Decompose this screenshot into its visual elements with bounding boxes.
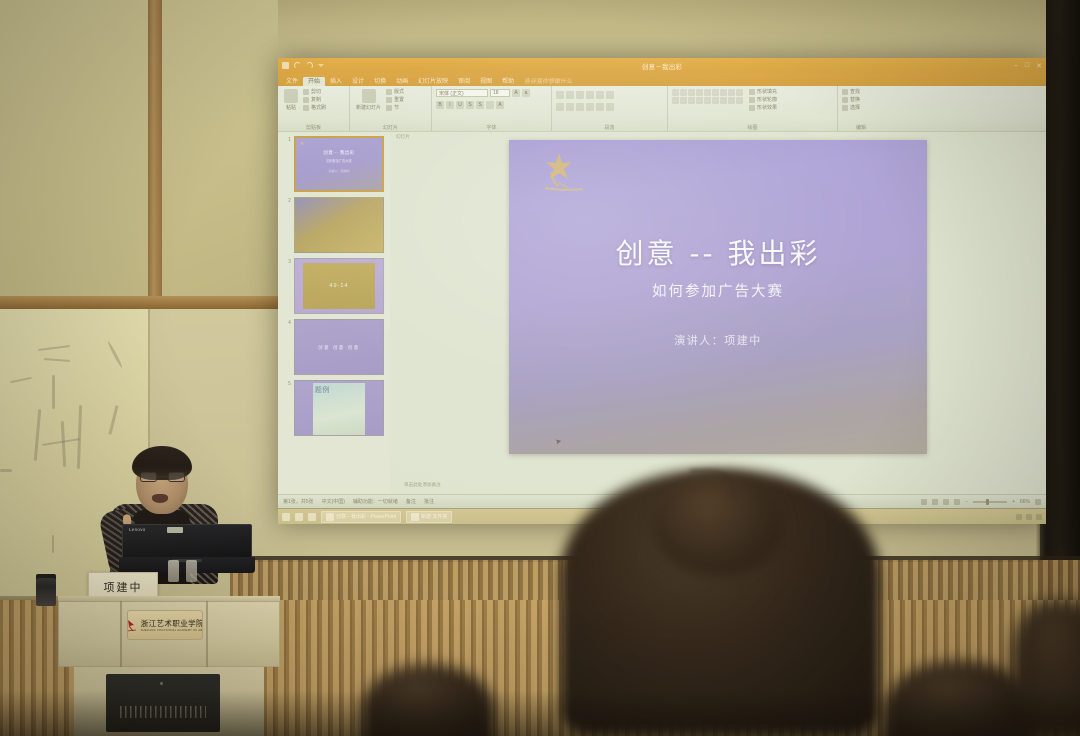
justify-button[interactable] xyxy=(586,103,594,111)
fill-bucket-icon xyxy=(749,89,755,95)
lectern-panel-seam xyxy=(206,601,208,667)
slide-counter: 第1张，共5张 xyxy=(283,498,314,505)
whiteboard-marker-trace xyxy=(52,375,55,409)
search-icon xyxy=(842,89,848,95)
decrease-indent-button[interactable] xyxy=(576,91,584,99)
thumbnail-text: 49-14 xyxy=(295,283,383,289)
font-size-input[interactable]: 18 xyxy=(490,89,510,97)
scissors-icon xyxy=(303,89,309,95)
ribbon-group-drawing: 形状填充 形状轮廓 形状效果 绘图 xyxy=(668,86,838,132)
foreground-shadow xyxy=(0,690,1080,736)
window-title: 创意－我出彩 xyxy=(278,61,1046,71)
lecture-hall-photo: 创意－我出彩 – □ ✕ 文件 开始 插入 设计 切换 动画 幻灯片放映 审阅 … xyxy=(0,0,1080,736)
whiteboard-marker-trace xyxy=(44,358,70,362)
slide-thumbnail-3[interactable]: 49-14 xyxy=(294,258,384,314)
minimize-button[interactable]: – xyxy=(1014,62,1018,69)
group-label-paragraph: 段落 xyxy=(552,124,667,131)
line-spacing-button[interactable] xyxy=(596,91,604,99)
character-spacing-icon[interactable] xyxy=(486,101,494,109)
slide-canvas-pane[interactable]: 幻灯片 创意 -- 我出彩 如何参加广告大赛 演讲人：项建中 ➤ xyxy=(390,132,1046,494)
shape-bracket-icon[interactable] xyxy=(712,97,719,104)
window-controls[interactable]: – □ ✕ xyxy=(1014,58,1042,73)
replace-icon xyxy=(842,97,848,103)
decrease-font-icon[interactable]: a xyxy=(522,89,530,97)
wall-wood-trim-vertical xyxy=(148,0,162,305)
thumbnail-number: 4 xyxy=(286,319,291,326)
copy-button[interactable]: 复制 xyxy=(303,97,326,103)
shape-heart-icon[interactable] xyxy=(728,97,735,104)
ribbon-group-slides: 新建幻灯片 版式 重置 xyxy=(350,86,432,132)
institution-name-cn: 浙江艺术职业学院 xyxy=(141,618,203,629)
layout-button[interactable]: 版式 xyxy=(386,89,404,95)
layout-icon xyxy=(386,89,392,95)
shape-freeform-icon[interactable] xyxy=(680,97,687,104)
copy-icon xyxy=(303,97,309,103)
shape-cube-icon[interactable] xyxy=(704,97,711,104)
shape-plus-icon[interactable] xyxy=(720,97,727,104)
shape-diamond-icon[interactable] xyxy=(688,97,695,104)
shape-curve-icon[interactable] xyxy=(672,97,679,104)
align-right-button[interactable] xyxy=(576,103,584,111)
thumbnail-number: 5 xyxy=(286,380,291,387)
bold-button[interactable]: B xyxy=(436,101,444,109)
slide-sorter-icon[interactable] xyxy=(932,499,938,505)
slide-thumbnail-1[interactable]: ★ 创意 -- 我出彩 如何参加广告大赛 演讲人：项建中 xyxy=(294,136,384,192)
format-painter-button[interactable]: 格式刷 xyxy=(303,105,326,111)
section-icon xyxy=(386,105,392,111)
tab-review[interactable]: 审阅 xyxy=(453,77,475,86)
align-center-button[interactable] xyxy=(566,103,574,111)
group-label-font: 字体 xyxy=(432,124,551,131)
ribbon-group-clipboard: 粘贴 剪切 复制 xyxy=(278,86,350,132)
work-area: 1 ★ 创意 -- 我出彩 如何参加广告大赛 演讲人：项建中 2 3 xyxy=(278,132,1046,494)
shape-oval-icon[interactable] xyxy=(680,89,687,96)
slide-thumbnail-4[interactable]: 创意 创意 创意 xyxy=(294,319,384,375)
thumbnail-text: 题例 xyxy=(315,385,330,395)
tab-view[interactable]: 视图 xyxy=(475,77,497,86)
new-slide-icon xyxy=(362,89,376,103)
increase-font-icon[interactable]: A xyxy=(512,89,520,97)
ribbon-tab-strip[interactable]: 文件 开始 插入 设计 切换 动画 幻灯片放映 审阅 视图 帮助 告诉我你想做什… xyxy=(278,73,1046,86)
wall-wood-trim-horizontal xyxy=(0,296,282,309)
ime-icon[interactable] xyxy=(1036,514,1042,520)
tab-help[interactable]: 帮助 xyxy=(497,77,519,86)
eyeglass-bridge xyxy=(157,476,168,477)
window-titlebar: 创意－我出彩 – □ ✕ xyxy=(278,58,1046,73)
shape-callout-icon[interactable] xyxy=(720,89,727,96)
institution-name-en: ZHEJIANG VOCATIONAL ACADEMY OF ART xyxy=(141,629,203,632)
windows-start-icon[interactable] xyxy=(282,513,290,521)
zoom-in-icon[interactable]: + xyxy=(1012,499,1015,505)
close-button[interactable]: ✕ xyxy=(1036,62,1042,70)
shape-more-icon[interactable] xyxy=(736,89,743,96)
shape-effects-button[interactable]: 形状效果 xyxy=(749,105,777,111)
tell-me-search[interactable]: 告诉我你想做什么 xyxy=(519,77,577,86)
thumbnail-title: 创意 -- 我出彩 xyxy=(296,150,382,156)
institution-plaque: 浙江艺术职业学院 ZHEJIANG VOCATIONAL ACADEMY OF … xyxy=(127,610,203,640)
effects-icon xyxy=(749,105,755,111)
reading-view-icon[interactable] xyxy=(943,499,949,505)
numbering-button[interactable] xyxy=(566,91,574,99)
slide-title[interactable]: 创意 -- 我出彩 xyxy=(509,232,927,272)
whiteboard-marker-trace xyxy=(61,421,66,467)
red-dancer-logo-icon xyxy=(127,618,139,633)
gold-star-dancer-logo-icon xyxy=(535,150,599,196)
network-icon[interactable] xyxy=(1016,514,1022,520)
shape-fill-button[interactable]: 形状填充 xyxy=(749,89,777,95)
zoom-out-icon[interactable]: − xyxy=(965,499,968,505)
thumbnail-row[interactable]: 1 ★ 创意 -- 我出彩 如何参加广告大赛 演讲人：项建中 xyxy=(286,136,384,192)
new-slide-button[interactable]: 新建幻灯片 xyxy=(354,89,383,111)
cut-button[interactable]: 剪切 xyxy=(303,89,326,95)
paste-button[interactable]: 粘贴 xyxy=(282,89,300,111)
tab-design[interactable]: 设计 xyxy=(347,77,369,86)
powerpoint-window: 创意－我出彩 – □ ✕ 文件 开始 插入 设计 切换 动画 幻灯片放映 审阅 … xyxy=(278,58,1046,524)
projection-light-spill xyxy=(278,0,1046,62)
slide-subtitle[interactable]: 如何参加广告大赛 xyxy=(509,280,927,301)
restore-button[interactable]: □ xyxy=(1025,62,1029,69)
laptop-brand-label: Lenovo xyxy=(129,527,146,532)
accessibility-indicator[interactable]: 辅助功能：一切就绪 xyxy=(353,498,398,505)
explorer-icon[interactable] xyxy=(308,513,316,521)
replace-button[interactable]: 替换 xyxy=(842,97,860,103)
thumbnail-row[interactable]: 3 49-14 xyxy=(286,258,384,314)
slide-thumbnail-2[interactable] xyxy=(294,197,384,253)
whiteboard-marker-trace xyxy=(107,341,124,369)
shape-star-icon[interactable] xyxy=(712,89,719,96)
ribbon: 粘贴 剪切 复制 xyxy=(278,86,1046,132)
shape-moon-icon[interactable] xyxy=(736,97,743,104)
font-name-input[interactable]: 宋体 (正文) xyxy=(436,89,488,97)
whiteboard-marker-trace xyxy=(38,345,70,351)
section-button[interactable]: 节 xyxy=(386,105,404,111)
language-indicator[interactable]: 中文(中国) xyxy=(322,498,345,505)
star-logo-icon: ★ xyxy=(300,141,304,147)
whiteboard-marker-trace xyxy=(108,405,118,435)
shape-pentagon-icon[interactable] xyxy=(728,89,735,96)
thumbnail-subtitle: 如何参加广告大赛 xyxy=(296,158,382,163)
group-label-slides: 幻灯片 xyxy=(350,124,431,131)
plaque-text-block: 浙江艺术职业学院 ZHEJIANG VOCATIONAL ACADEMY OF … xyxy=(141,618,203,633)
whiteboard-marker-trace xyxy=(34,409,42,461)
lectern-panel-seam xyxy=(120,601,122,667)
powerpoint-icon xyxy=(326,513,334,521)
folder-icon xyxy=(411,513,419,521)
group-label-editing: 编辑 xyxy=(838,124,884,131)
upper-left-wall xyxy=(0,0,282,300)
select-button[interactable]: 选择 xyxy=(842,105,860,111)
shape-cylinder-icon[interactable] xyxy=(696,97,703,104)
eyeglass-lens-left xyxy=(140,472,157,482)
paste-icon xyxy=(284,89,298,103)
text-direction-button[interactable] xyxy=(606,91,614,99)
grille-indicator-dot xyxy=(160,682,163,685)
slideshow-icon[interactable] xyxy=(954,499,960,505)
fit-to-window-icon[interactable] xyxy=(1035,499,1041,505)
notes-button[interactable]: 备注 xyxy=(406,498,416,505)
tab-animations[interactable]: 动画 xyxy=(391,77,413,86)
italic-button[interactable]: I xyxy=(446,101,454,109)
water-bottle-small xyxy=(168,560,179,582)
thumbnail-row[interactable]: 4 创意 创意 创意 xyxy=(286,319,384,375)
strikethrough-button[interactable]: S xyxy=(466,101,474,109)
status-bar-right[interactable]: − + 66% xyxy=(921,499,1041,505)
tab-home[interactable]: 开始 xyxy=(303,77,325,86)
taskbar-window-folder[interactable]: 新建 文件夹 xyxy=(406,511,452,523)
increase-indent-button[interactable] xyxy=(586,91,594,99)
thumbnail-presenter: 演讲人：项建中 xyxy=(296,169,382,173)
laptop-lid: Lenovo xyxy=(122,524,252,558)
find-button[interactable]: 查找 xyxy=(842,89,860,95)
nameplate-text: 项建中 xyxy=(104,579,143,595)
notes-placeholder[interactable]: 单击此处添加备注 xyxy=(404,482,441,488)
shape-line-icon[interactable] xyxy=(696,89,703,96)
reset-button[interactable]: 重置 xyxy=(386,97,404,103)
volume-icon[interactable] xyxy=(1026,514,1032,520)
thumbnail-number: 3 xyxy=(286,258,291,265)
group-label-clipboard: 剪贴板 xyxy=(278,124,349,131)
outline-pen-icon xyxy=(749,97,755,103)
system-tray[interactable] xyxy=(1016,514,1042,520)
group-label-drawing: 绘图 xyxy=(668,124,837,131)
tab-transitions[interactable]: 切换 xyxy=(369,77,391,86)
zoom-slider[interactable] xyxy=(973,501,1007,503)
water-bottle xyxy=(36,578,56,606)
zoom-level[interactable]: 66% xyxy=(1020,499,1030,505)
underline-button[interactable]: U xyxy=(456,101,464,109)
thumbnail-number: 1 xyxy=(286,136,291,143)
shape-outline-button[interactable]: 形状轮廓 xyxy=(749,97,777,103)
font-color-button[interactable]: A xyxy=(496,101,504,109)
tab-file[interactable]: 文件 xyxy=(281,77,303,86)
thumbnail-text: 创意 创意 创意 xyxy=(295,345,383,351)
canvas-tab-label: 幻灯片 xyxy=(396,134,410,140)
shadow-button[interactable]: S xyxy=(476,101,484,109)
whiteboard-marker-trace xyxy=(52,535,54,553)
ribbon-group-paragraph: 段落 xyxy=(552,86,668,132)
convert-smartart-button[interactable] xyxy=(606,103,614,111)
bullets-button[interactable] xyxy=(556,91,564,99)
thumbnail-number: 2 xyxy=(286,197,291,204)
columns-button[interactable] xyxy=(596,103,604,111)
thumbnail-row[interactable]: 5 题例 xyxy=(286,380,384,436)
tab-insert[interactable]: 插入 xyxy=(325,77,347,86)
comments-button[interactable]: 批注 xyxy=(424,498,434,505)
shape-arrow-icon[interactable] xyxy=(704,89,711,96)
ribbon-group-editing: 查找 替换 选择 编辑 xyxy=(838,86,884,132)
laptop-sticker xyxy=(167,527,183,533)
normal-view-icon[interactable] xyxy=(921,499,927,505)
projection-screen: 创意－我出彩 – □ ✕ 文件 开始 插入 设计 切换 动画 幻灯片放映 审阅 … xyxy=(278,58,1046,524)
active-slide[interactable]: 创意 -- 我出彩 如何参加广告大赛 演讲人：项建中 ➤ xyxy=(509,140,927,454)
zoom-slider-knob[interactable] xyxy=(986,499,989,505)
shapes-gallery[interactable] xyxy=(672,89,743,104)
shape-rectangle-icon[interactable] xyxy=(672,89,679,96)
arrow-cursor-icon: ➤ xyxy=(554,436,562,446)
whiteboard-marker-trace xyxy=(10,377,32,384)
water-bottle-small xyxy=(186,560,197,582)
reset-icon xyxy=(386,97,392,103)
align-left-button[interactable] xyxy=(556,103,564,111)
whiteboard-marker-trace xyxy=(77,405,82,469)
ribbon-group-font: 宋体 (正文) 18 A a B I U S S A xyxy=(432,86,552,132)
right-side-wall xyxy=(1040,0,1080,600)
search-icon[interactable] xyxy=(295,513,303,521)
whiteboard-marker-trace xyxy=(0,469,12,472)
taskbar-window-powerpoint[interactable]: 创意－我出彩 - PowerPoint xyxy=(321,511,401,523)
tab-slideshow[interactable]: 幻灯片放映 xyxy=(413,77,453,86)
select-icon xyxy=(842,105,848,111)
eyeglass-lens-right xyxy=(168,472,185,482)
thumbnail-row[interactable]: 2 xyxy=(286,197,384,253)
presenter-mouth xyxy=(152,494,168,503)
shape-triangle-icon[interactable] xyxy=(688,89,695,96)
eyeglasses xyxy=(140,472,185,482)
paintbrush-icon xyxy=(303,105,309,111)
slide-thumbnails-pane[interactable]: 1 ★ 创意 -- 我出彩 如何参加广告大赛 演讲人：项建中 2 3 xyxy=(278,132,390,494)
slide-thumbnail-5[interactable]: 题例 xyxy=(294,380,384,436)
slide-presenter[interactable]: 演讲人：项建中 xyxy=(509,332,927,348)
